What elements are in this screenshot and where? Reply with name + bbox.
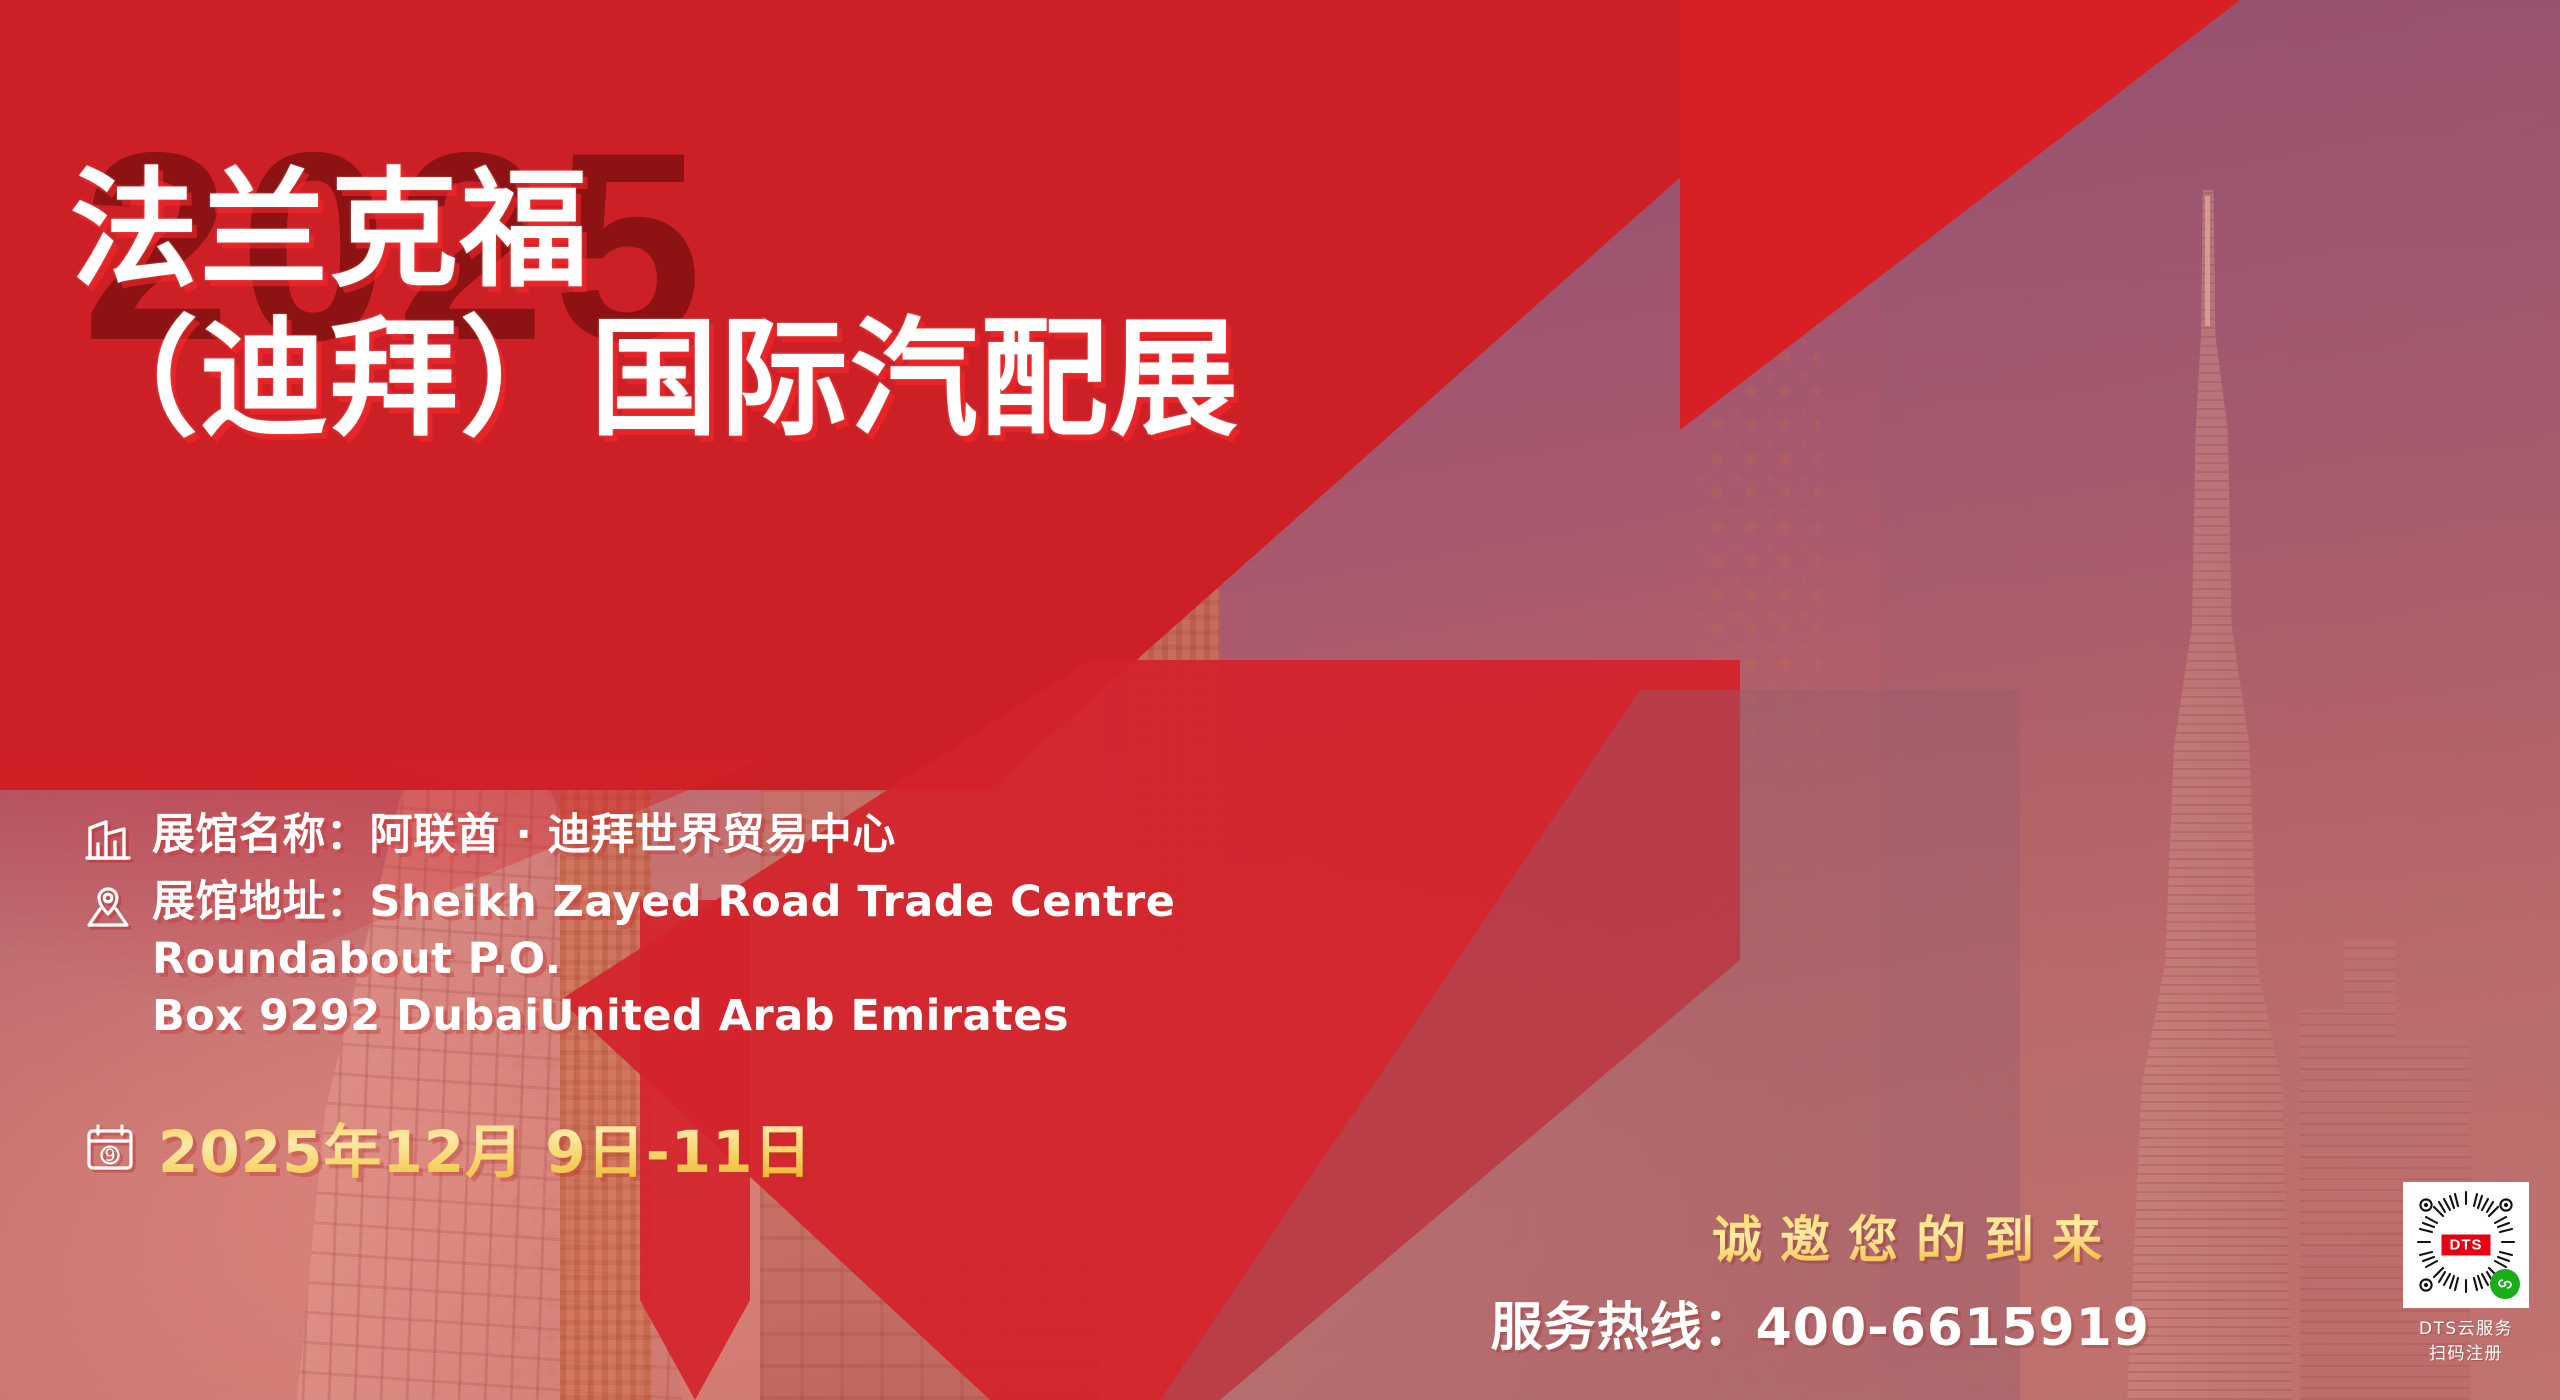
event-title-line-2: （迪拜）国际汽配展 — [70, 315, 1240, 446]
banner-content: 2025 法兰克福 （迪拜）国际汽配展 展馆名称：阿联酋 · 迪拜世界贸易中心 — [0, 0, 2560, 1400]
museum-building-icon — [82, 814, 134, 866]
qr-registration-block[interactable]: DTS DTS云服务 扫码注册 — [2403, 1182, 2529, 1366]
qr-brand-logo: DTS — [2442, 1235, 2491, 1256]
service-hotline-text: 服务热线：400-6615919 — [1491, 1285, 2150, 1360]
qr-code-image[interactable]: DTS — [2403, 1182, 2529, 1308]
calendar-icon: 9 — [82, 1119, 138, 1175]
event-date-row: 9 2025年12月 9日-11日 — [82, 1105, 812, 1189]
invitation-slogan: 诚邀您的到来 — [1712, 1200, 2120, 1272]
qr-caption-line-2: 扫码注册 — [2429, 1344, 2503, 1364]
venue-name-row: 展馆名称：阿联酋 · 迪拜世界贸易中心 — [82, 808, 1412, 866]
event-title-line-1: 法兰克福 — [70, 166, 1240, 297]
venue-address-line-1: 展馆地址：Sheikh Zayed Road Trade Centre Roun… — [152, 877, 1175, 984]
venue-address-line-2: Box 9292 DubaiUnited Arab Emirates — [152, 991, 1069, 1041]
venue-address-row: 展馆地址：Sheikh Zayed Road Trade Centre Roun… — [82, 874, 1412, 1044]
venue-name-text: 展馆名称：阿联酋 · 迪拜世界贸易中心 — [152, 808, 896, 863]
venue-address-text: 展馆地址：Sheikh Zayed Road Trade Centre Roun… — [152, 874, 1412, 1044]
event-date-text: 2025年12月 9日-11日 — [158, 1105, 812, 1189]
event-info-list: 展馆名称：阿联酋 · 迪拜世界贸易中心 展馆地址：Sheikh Zayed Ro… — [82, 808, 1412, 1052]
wechat-miniprogram-icon — [2490, 1269, 2520, 1299]
map-location-pin-icon — [82, 880, 134, 932]
event-title: 法兰克福 （迪拜）国际汽配展 — [70, 166, 1240, 445]
qr-caption: DTS云服务 扫码注册 — [2403, 1317, 2529, 1366]
qr-caption-line-1: DTS云服务 — [2419, 1319, 2513, 1339]
exhibition-promo-banner: 2025 法兰克福 （迪拜）国际汽配展 展馆名称：阿联酋 · 迪拜世界贸易中心 — [0, 0, 2560, 1400]
